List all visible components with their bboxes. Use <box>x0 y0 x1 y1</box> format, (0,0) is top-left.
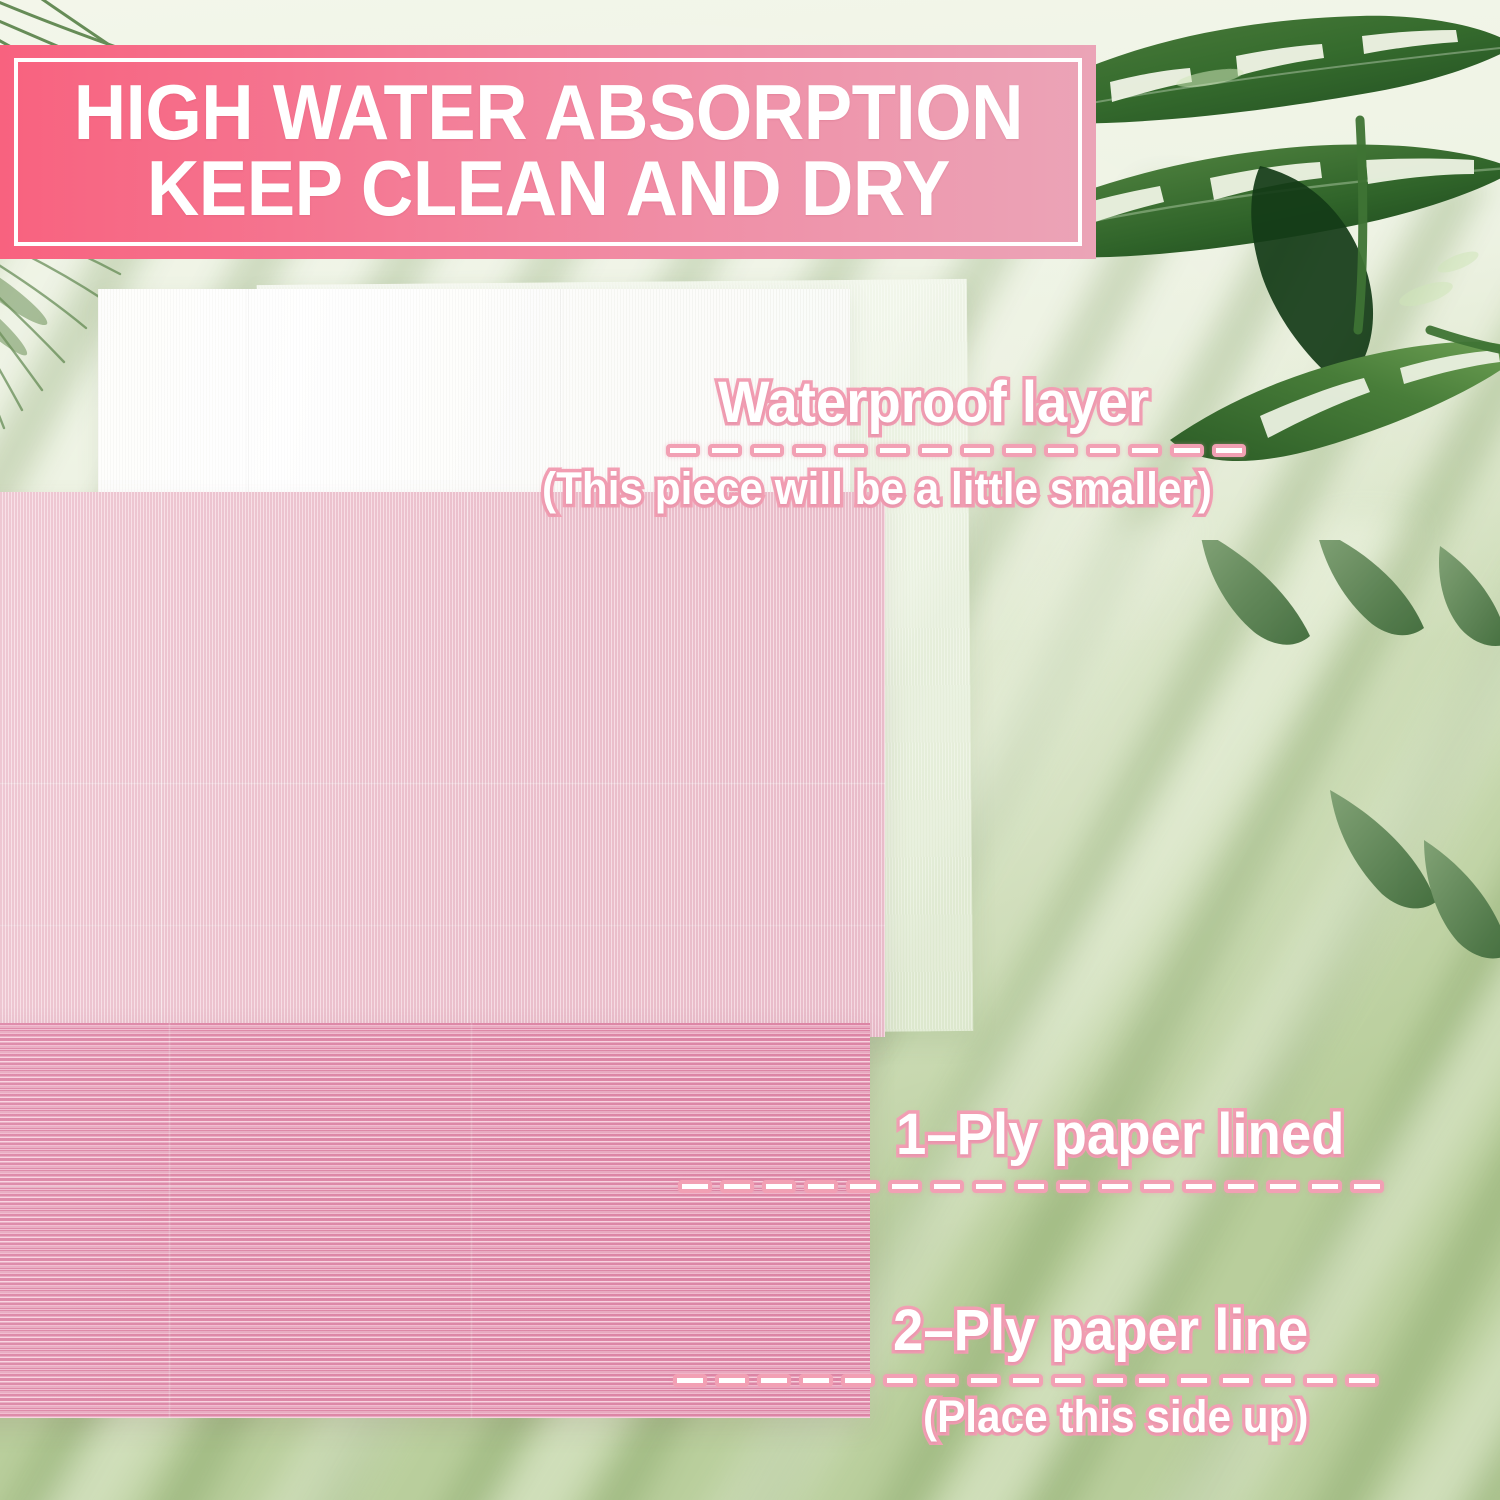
fold-crease <box>466 492 469 1037</box>
dark-pink-sheet <box>0 1023 870 1418</box>
callout-waterproof-layer: Waterproof layer (This piece will be a l… <box>718 372 1255 513</box>
callout-two-ply-subtitle: (Place this side up) <box>923 1393 1352 1441</box>
dashed-divider <box>673 1369 1379 1391</box>
fold-crease <box>0 924 885 927</box>
callout-two-ply: 2–Ply paper line (Place this side up) <box>893 1300 1379 1441</box>
callout-two-ply-title: 2–Ply paper line <box>893 1300 1350 1361</box>
fold-crease <box>470 1023 473 1418</box>
fold-crease <box>0 782 885 785</box>
header-banner: HIGH WATER ABSORPTION KEEP CLEAN AND DRY <box>0 45 1096 259</box>
dashed-divider <box>666 439 1255 461</box>
banner-headline: HIGH WATER ABSORPTION KEEP CLEAN AND DRY <box>73 74 1022 231</box>
fold-crease <box>168 1023 171 1418</box>
light-pink-sheet <box>0 492 885 1037</box>
embossed-texture <box>0 1023 870 1418</box>
dashed-divider <box>678 1175 1384 1197</box>
callout-one-ply-title: 1–Ply paper lined <box>896 1104 1355 1165</box>
callout-waterproof-subtitle: (This piece will be a little smaller) <box>542 465 1212 513</box>
fold-crease <box>160 492 163 1037</box>
callout-one-ply: 1–Ply paper lined <box>896 1104 1384 1197</box>
callout-waterproof-title: Waterproof layer <box>718 372 1223 433</box>
product-infographic: HIGH WATER ABSORPTION KEEP CLEAN AND DRY… <box>0 0 1500 1500</box>
